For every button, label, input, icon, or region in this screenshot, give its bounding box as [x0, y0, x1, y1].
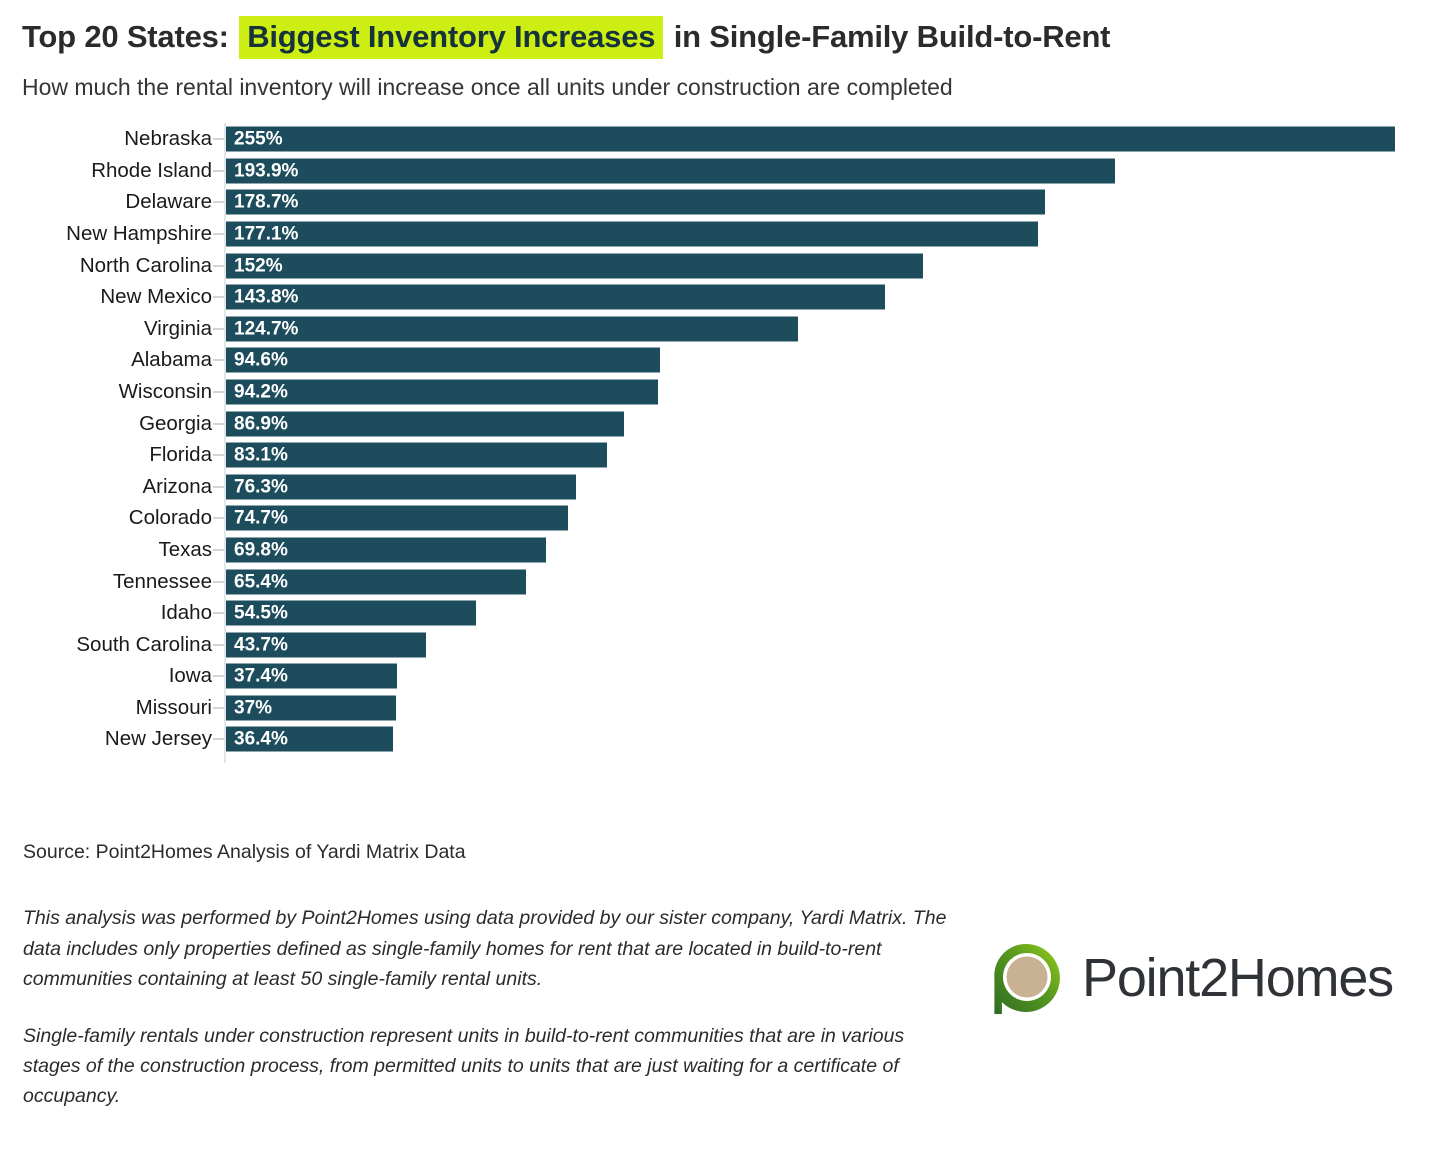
bar: 143.8%	[226, 285, 885, 310]
axis-tick	[213, 359, 224, 361]
bar-row: North Carolina152%	[0, 250, 1440, 282]
bar-value-label: 74.7%	[226, 509, 288, 528]
bar: 37%	[226, 695, 396, 720]
bar-value-label: 152%	[226, 256, 283, 275]
page-title: Top 20 States: Biggest Inventory Increas…	[22, 18, 1420, 56]
footnote-1: This analysis was performed by Point2Hom…	[23, 903, 948, 994]
point2homes-ring-icon	[986, 938, 1066, 1018]
axis-tick	[213, 265, 224, 267]
bar-row: New Hampshire177.1%	[0, 218, 1440, 250]
bar-value-label: 177.1%	[226, 224, 298, 243]
bar-row: Rhode Island193.9%	[0, 155, 1440, 187]
bar-value-label: 69.8%	[226, 540, 288, 559]
category-label: Georgia	[139, 413, 212, 434]
bar-value-label: 124.7%	[226, 319, 298, 338]
bar-value-label: 83.1%	[226, 446, 288, 465]
bar-row: Delaware178.7%	[0, 187, 1440, 219]
axis-tick	[213, 296, 224, 298]
axis-tick	[213, 517, 224, 519]
category-label: New Mexico	[100, 287, 212, 308]
bar-row: Virginia124.7%	[0, 313, 1440, 345]
bar-row: New Mexico143.8%	[0, 281, 1440, 313]
title-prefix: Top 20 States:	[22, 19, 237, 54]
category-label: Delaware	[125, 192, 212, 213]
bar-value-label: 54.5%	[226, 604, 288, 623]
bar: 76.3%	[226, 474, 576, 499]
axis-tick	[213, 612, 224, 614]
axis-tick	[213, 391, 224, 393]
bar-row: Georgia86.9%	[0, 408, 1440, 440]
bar-value-label: 36.4%	[226, 730, 288, 749]
axis-tick	[213, 707, 224, 709]
category-label: North Carolina	[80, 255, 212, 276]
bar: 94.6%	[226, 348, 660, 373]
title-highlight: Biggest Inventory Increases	[239, 16, 663, 59]
axis-tick	[213, 581, 224, 583]
axis-tick	[213, 486, 224, 488]
chart-header: Top 20 States: Biggest Inventory Increas…	[0, 0, 1440, 101]
bar: 86.9%	[226, 411, 624, 436]
axis-tick	[213, 328, 224, 330]
bar: 36.4%	[226, 727, 393, 752]
axis-tick	[213, 170, 224, 172]
bar-value-label: 37.4%	[226, 667, 288, 686]
category-label: Tennessee	[113, 571, 212, 592]
category-label: Rhode Island	[91, 161, 212, 182]
bar-value-label: 76.3%	[226, 477, 288, 496]
axis-tick	[213, 549, 224, 551]
bar: 193.9%	[226, 158, 1115, 183]
bar-value-label: 94.2%	[226, 382, 288, 401]
bar-row: Nebraska255%	[0, 123, 1440, 155]
bar-value-label: 143.8%	[226, 288, 298, 307]
bar-value-label: 255%	[226, 130, 283, 149]
bar-row: Idaho54.5%	[0, 597, 1440, 629]
category-label: Idaho	[161, 603, 212, 624]
bar: 69.8%	[226, 537, 546, 562]
axis-tick	[213, 201, 224, 203]
bar: 83.1%	[226, 443, 607, 468]
bar-row: Alabama94.6%	[0, 345, 1440, 377]
bar: 65.4%	[226, 569, 526, 594]
axis-tick	[213, 738, 224, 740]
bar-rows: Nebraska255%Rhode Island193.9%Delaware17…	[0, 123, 1440, 755]
axis-tick	[213, 423, 224, 425]
category-label: Nebraska	[124, 129, 212, 150]
bar-value-label: 193.9%	[226, 161, 298, 180]
bar-row: Wisconsin94.2%	[0, 376, 1440, 408]
axis-tick	[213, 644, 224, 646]
category-label: Florida	[149, 445, 212, 466]
axis-tick	[213, 454, 224, 456]
category-label: Texas	[158, 540, 212, 561]
bar-value-label: 86.9%	[226, 414, 288, 433]
source-text: Source: Point2Homes Analysis of Yardi Ma…	[0, 840, 1440, 865]
title-suffix: in Single-Family Build-to-Rent	[665, 19, 1110, 54]
bar-row: Florida83.1%	[0, 439, 1440, 471]
category-label: Arizona	[142, 476, 212, 497]
logo-wordmark: Point2Homes	[1082, 951, 1393, 1005]
category-label: New Hampshire	[66, 224, 212, 245]
bar-row: Iowa37.4%	[0, 661, 1440, 693]
footnote-2: Single-family rentals under construction…	[23, 1021, 948, 1112]
chart-subtitle: How much the rental inventory will incre…	[22, 74, 1420, 102]
bar-value-label: 65.4%	[226, 572, 288, 591]
category-label: Alabama	[131, 350, 212, 371]
category-label: New Jersey	[105, 729, 212, 750]
bar-row: New Jersey36.4%	[0, 724, 1440, 756]
bar-chart: Nebraska255%Rhode Island193.9%Delaware17…	[0, 123, 1440, 769]
category-label: Wisconsin	[119, 382, 212, 403]
bar: 178.7%	[226, 190, 1045, 215]
category-label: Virginia	[144, 319, 212, 340]
bar: 152%	[226, 253, 923, 278]
bar-row: Arizona76.3%	[0, 471, 1440, 503]
axis-tick	[213, 138, 224, 140]
bar: 54.5%	[226, 601, 476, 626]
category-label: South Carolina	[76, 634, 212, 655]
point2homes-logo: Point2Homes	[986, 938, 1393, 1018]
category-label: Iowa	[169, 666, 212, 687]
bar: 255%	[226, 127, 1395, 152]
bar: 124.7%	[226, 316, 798, 341]
bar: 94.2%	[226, 379, 658, 404]
bar: 74.7%	[226, 506, 568, 531]
category-label: Missouri	[136, 698, 212, 719]
bar: 43.7%	[226, 632, 426, 657]
bar-row: Texas69.8%	[0, 534, 1440, 566]
bar-row: Missouri37%	[0, 692, 1440, 724]
bar-row: Colorado74.7%	[0, 503, 1440, 535]
bar: 37.4%	[226, 664, 397, 689]
axis-tick	[213, 233, 224, 235]
axis-tick	[213, 675, 224, 677]
bar-row: South Carolina43.7%	[0, 629, 1440, 661]
bar: 177.1%	[226, 221, 1038, 246]
bar-value-label: 94.6%	[226, 351, 288, 370]
bar-value-label: 37%	[226, 698, 272, 717]
bar-row: Tennessee65.4%	[0, 566, 1440, 598]
category-label: Colorado	[129, 508, 212, 529]
bar-value-label: 43.7%	[226, 635, 288, 654]
bar-value-label: 178.7%	[226, 193, 298, 212]
